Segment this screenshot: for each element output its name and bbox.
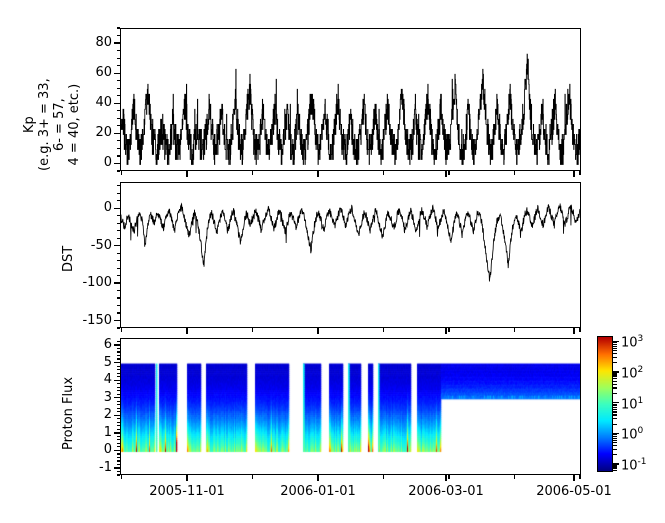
y-tick-minor [117,268,121,269]
x-tick-major [445,171,446,177]
y-tick-minor [117,457,121,458]
colorbar-tick-minor [613,449,617,450]
x-tick-label: 2006-05-01 [519,485,629,498]
y-tick-label: -150 [56,314,112,327]
y-tick-minor [117,366,121,367]
colorbar-tick-minor [613,373,617,374]
y-tick-minor [117,253,121,254]
y-tick-major [114,450,120,451]
x-tick-minor [579,475,580,479]
y-tick-major [114,415,120,416]
kp-line [121,54,581,164]
y-tick-minor [117,373,121,374]
proton-flux-axis-title: Proton Flux [62,377,76,450]
y-tick-minor [117,50,121,51]
x-tick-minor [252,171,253,175]
y-tick-minor [117,474,121,475]
y-tick-label: -100 [56,276,112,289]
colorbar-tick-minor [613,414,617,415]
proton-flux-spectrogram-image [121,339,581,475]
colorbar-tick-minor [613,405,617,406]
y-tick-minor [117,95,121,96]
y-tick-minor [117,305,121,306]
colorbar-tick-minor [613,454,617,455]
colorbar-tick-minor [613,468,617,469]
y-tick-minor [117,193,121,194]
y-tick-minor [117,446,121,447]
colorbar-tick-label: 10-1 [621,456,647,472]
dst-trace [121,183,581,328]
colorbar-tick-minor [613,376,617,377]
y-tick-minor [117,140,121,141]
colorbar-tick-minor [613,348,617,349]
x-tick-major [573,475,574,481]
y-tick-minor [117,148,121,149]
y-tick-minor [117,58,121,59]
y-tick-major [114,42,120,43]
y-tick-minor [117,408,121,409]
x-tick-minor [383,328,384,332]
y-tick-minor [117,27,121,28]
y-tick-minor [117,260,121,261]
y-tick-minor [117,464,121,465]
colorbar-tick-minor [613,436,617,437]
x-tick-minor [579,328,580,332]
y-tick-minor [117,443,121,444]
y-tick-minor [117,369,121,370]
x-tick-minor [448,475,449,479]
x-tick-minor [514,171,515,175]
y-tick-major [114,282,120,283]
y-tick-minor [117,312,121,313]
colorbar-tick-label: 101 [621,395,643,411]
y-tick-minor [117,383,121,384]
colorbar-tick-minor [613,411,617,412]
colorbar-tick-minor [613,362,617,363]
colorbar-tick-minor [613,346,617,347]
x-tick-major [445,475,446,481]
y-tick-minor [117,118,121,119]
x-tick-major [317,171,318,177]
y-tick-minor [117,394,121,395]
y-tick-minor [117,341,121,342]
y-tick-minor [117,453,121,454]
y-tick-minor [117,411,121,412]
x-tick-major [573,171,574,177]
x-tick-minor [448,328,449,332]
x-tick-minor [514,475,515,479]
colorbar-tick-label: 103 [621,333,643,349]
y-tick-minor [117,422,121,423]
colorbar-tick-minor [613,418,617,419]
x-tick-major [317,475,318,481]
y-tick-major [114,432,120,433]
x-tick-major [186,475,187,481]
y-tick-minor [117,327,121,328]
colorbar-tick-minor [613,438,617,439]
y-tick-major [114,73,120,74]
y-tick-major [114,163,120,164]
y-tick-minor [117,238,121,239]
x-tick-minor [514,328,515,332]
kp-axis-title: Kp(e.g. 3+ = 33,6- = 57,4 = 40, etc.) [22,78,82,171]
kp-axis-title-line: Kp [22,78,37,171]
y-tick-minor [117,376,121,377]
dst-line [121,204,581,282]
y-tick-major [114,397,120,398]
x-tick-major [186,328,187,334]
y-tick-minor [117,185,121,186]
x-tick-label: 2006-03-01 [391,485,501,498]
x-tick-minor [383,171,384,175]
x-tick-label: 2006-01-01 [263,485,373,498]
y-tick-minor [117,88,121,89]
x-tick-minor [383,475,384,479]
dst-axis-title: DST [62,246,76,272]
dst-panel [120,182,581,328]
y-tick-minor [117,155,121,156]
y-tick-major [114,245,120,246]
y-tick-major [114,467,120,468]
y-tick-minor [117,425,121,426]
colorbar-tick-minor [613,378,617,379]
colorbar-gradient [597,336,613,472]
y-tick-minor [117,110,121,111]
x-tick-major [317,328,318,334]
x-tick-major [445,328,446,334]
x-tick-minor [121,475,122,479]
colorbar-tick-minor [613,440,617,441]
colorbar-tick-minor [613,434,617,435]
y-tick-minor [117,439,121,440]
y-tick-minor [117,436,121,437]
y-tick-minor [117,230,121,231]
y-tick-major [114,103,120,104]
colorbar-tick-minor [613,442,617,443]
y-tick-minor [117,387,121,388]
kp-axis-title-line: 4 = 40, etc.) [67,78,82,171]
colorbar-tick-minor [613,344,617,345]
colorbar-tick-minor [613,393,617,394]
y-tick-minor [117,429,121,430]
y-tick-major [114,133,120,134]
colorbar-tick-label: 100 [621,425,643,441]
y-tick-minor [117,297,121,298]
proton-flux-panel [120,338,581,475]
y-tick-major [114,320,120,321]
x-tick-minor [121,328,122,332]
y-tick-major [114,380,120,381]
y-tick-minor [117,65,121,66]
colorbar-tick-minor [613,424,617,425]
colorbar-tick-minor [613,387,617,388]
y-tick-label: 80 [60,36,112,49]
colorbar-tick-minor [613,384,617,385]
y-tick-minor [117,290,121,291]
y-tick-minor [117,223,121,224]
kp-axis-title-line: 6- = 57, [52,78,67,171]
x-tick-major [186,171,187,177]
y-tick-label: 6 [58,338,112,351]
x-tick-major [573,328,574,334]
kp-trace [121,29,581,171]
y-tick-minor [117,390,121,391]
y-tick-major [114,362,120,363]
y-tick-minor [117,471,121,472]
colorbar-tick-minor [613,381,617,382]
y-tick-label: 0 [56,201,112,214]
y-tick-minor [117,170,121,171]
colorbar-tick-minor [613,465,617,466]
y-tick-minor [117,275,121,276]
y-tick-major [114,208,120,209]
y-tick-label: -1 [58,461,112,474]
y-tick-minor [117,358,121,359]
figure-root: 020406080 Kp(e.g. 3+ = 33,6- = 57,4 = 40… [0,0,665,523]
kp-panel [120,28,581,171]
y-tick-minor [117,404,121,405]
y-tick-minor [117,460,121,461]
colorbar-tick-minor [613,353,617,354]
colorbar-tick-minor [613,445,617,446]
y-tick-label: 60 [60,66,112,79]
x-tick-minor [252,475,253,479]
y-tick-minor [117,348,121,349]
y-tick-minor [117,80,121,81]
colorbar-tick-minor [613,404,617,405]
colorbar-tick-minor [613,466,617,467]
y-tick-minor [117,35,121,36]
y-tick-label: 5 [58,356,112,369]
y-tick-minor [117,355,121,356]
y-tick-minor [117,401,121,402]
colorbar-tick-label: 102 [621,364,643,380]
colorbar-tick-minor [613,350,617,351]
colorbar-tick-minor [613,374,617,375]
x-tick-label: 2005-11-01 [132,485,242,498]
x-tick-minor [252,328,253,332]
y-tick-minor [117,125,121,126]
y-tick-minor [117,351,121,352]
x-tick-minor [121,171,122,175]
colorbar-tick-minor [613,409,617,410]
colorbar-tick-minor [613,342,617,343]
y-tick-minor [117,418,121,419]
y-tick-major [114,344,120,345]
colorbar-tick-minor [613,407,617,408]
colorbar-tick-minor [613,357,617,358]
colorbar-tick-minor [613,470,617,471]
x-tick-minor [448,171,449,175]
x-tick-minor [579,171,580,175]
y-tick-minor [117,215,121,216]
y-tick-minor [117,200,121,201]
kp-axis-title-line: (e.g. 3+ = 33, [37,78,52,171]
